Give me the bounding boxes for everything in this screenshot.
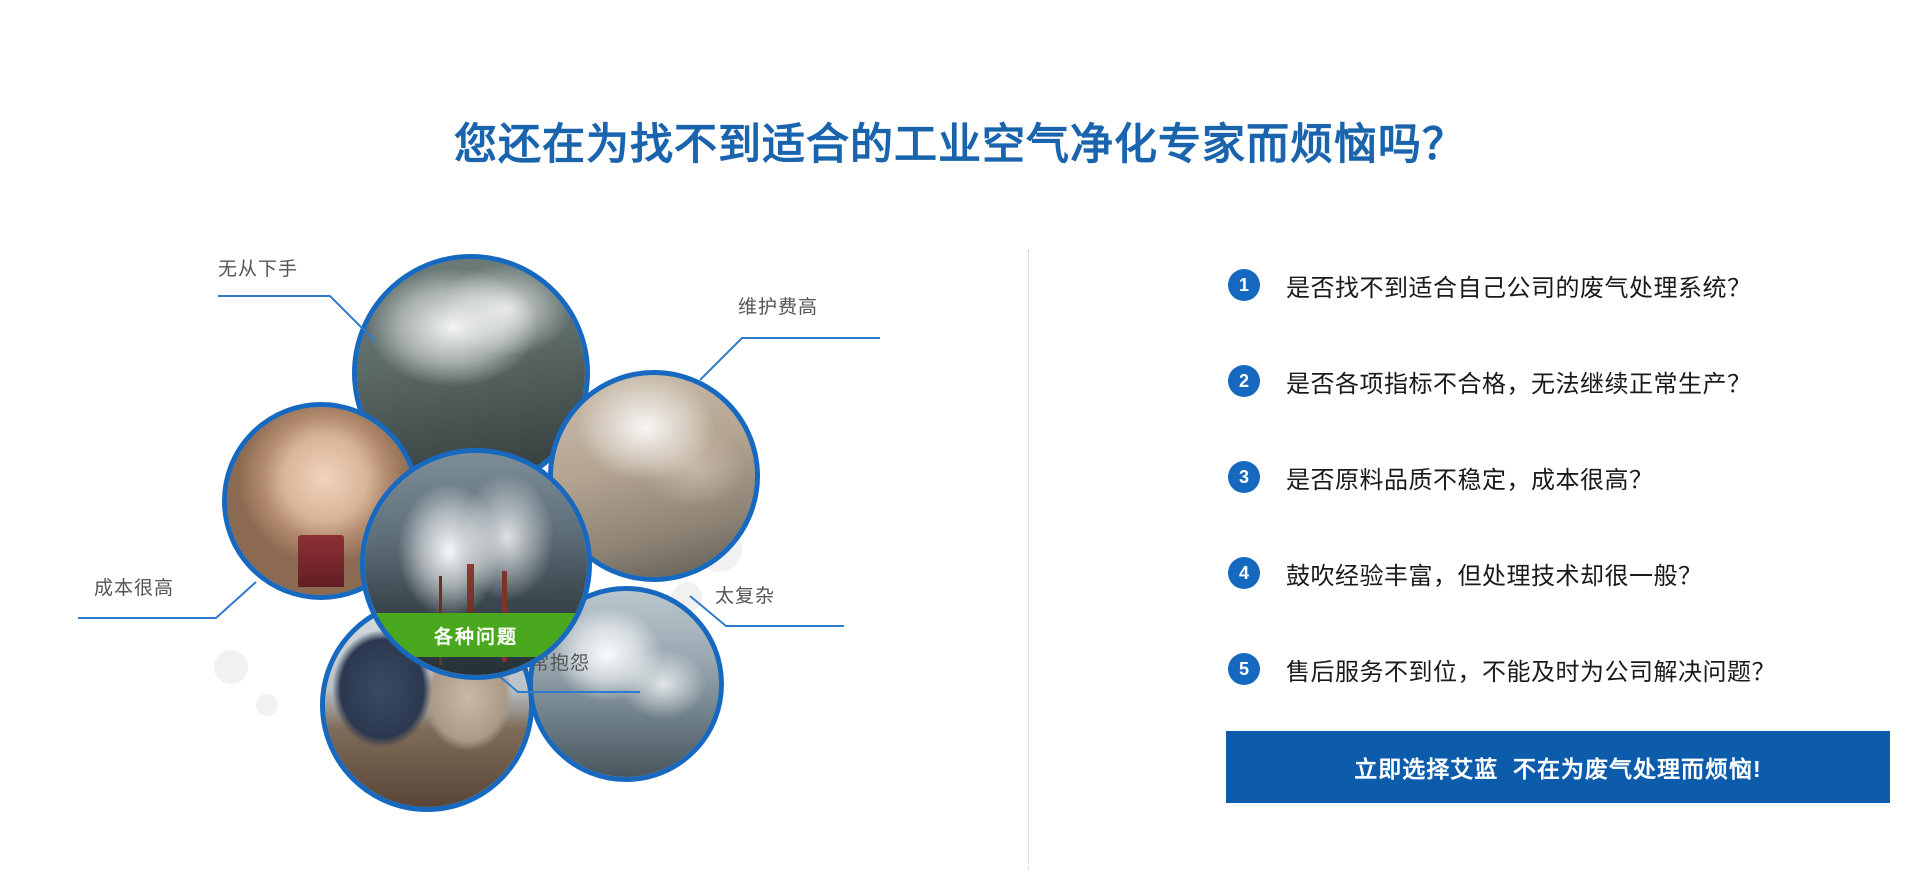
list-item-text: 售后服务不到位，不能及时为公司解决问题？ <box>1286 652 1776 687</box>
section-divider <box>1028 250 1029 870</box>
list-number-badge: 5 <box>1228 653 1260 685</box>
center-badge-label: 各种问题 <box>365 613 587 657</box>
list-number-badge: 4 <box>1228 557 1260 589</box>
callout-label-high-maintenance-cost: 维护费高 <box>738 292 818 319</box>
page-title: 您还在为找不到适合的工业空气净化专家而烦恼吗？ <box>0 119 1920 173</box>
list-item-text: 鼓吹经验丰富，但处理技术却很一般？ <box>1286 556 1703 591</box>
list-item: 3 是否原料品质不稳定，成本很高？ <box>1228 448 1888 506</box>
list-item: 5 售后服务不到位，不能及时为公司解决问题？ <box>1228 640 1888 698</box>
decorative-circle <box>256 694 278 716</box>
list-item-text: 是否原料品质不稳定，成本很高？ <box>1286 460 1654 495</box>
list-number-badge: 1 <box>1228 269 1260 301</box>
list-number-badge: 2 <box>1228 365 1260 397</box>
list-item: 1 是否找不到适合自己公司的废气处理系统？ <box>1228 256 1888 314</box>
cta-button[interactable]: 立即选择艾蓝 不在为废气处理而烦恼! <box>1226 731 1890 803</box>
decorative-circle <box>214 650 248 684</box>
problem-list: 1 是否找不到适合自己公司的废气处理系统？ 2 是否各项指标不合格，无法继续正常… <box>1228 256 1888 698</box>
callout-label-no-starting-point: 无从下手 <box>218 254 298 281</box>
list-item-text: 是否各项指标不合格，无法继续正常生产？ <box>1286 364 1752 399</box>
callout-label-high-cost: 成本很高 <box>94 573 174 600</box>
list-item: 2 是否各项指标不合格，无法继续正常生产？ <box>1228 352 1888 410</box>
callout-label-too-complex: 太复杂 <box>715 581 775 608</box>
problem-bubble-diagram: 各种问题 无从下手 维护费高 成本很高 太复杂 经常抱怨 <box>0 230 1020 875</box>
list-item: 4 鼓吹经验丰富，但处理技术却很一般？ <box>1228 544 1888 602</box>
list-item-text: 是否找不到适合自己公司的废气处理系统？ <box>1286 268 1752 303</box>
promo-page: 您还在为找不到适合的工业空气净化专家而烦恼吗？ <box>0 0 1920 875</box>
bubble-center-smokestacks: 各种问题 <box>360 448 592 680</box>
list-number-badge: 3 <box>1228 461 1260 493</box>
